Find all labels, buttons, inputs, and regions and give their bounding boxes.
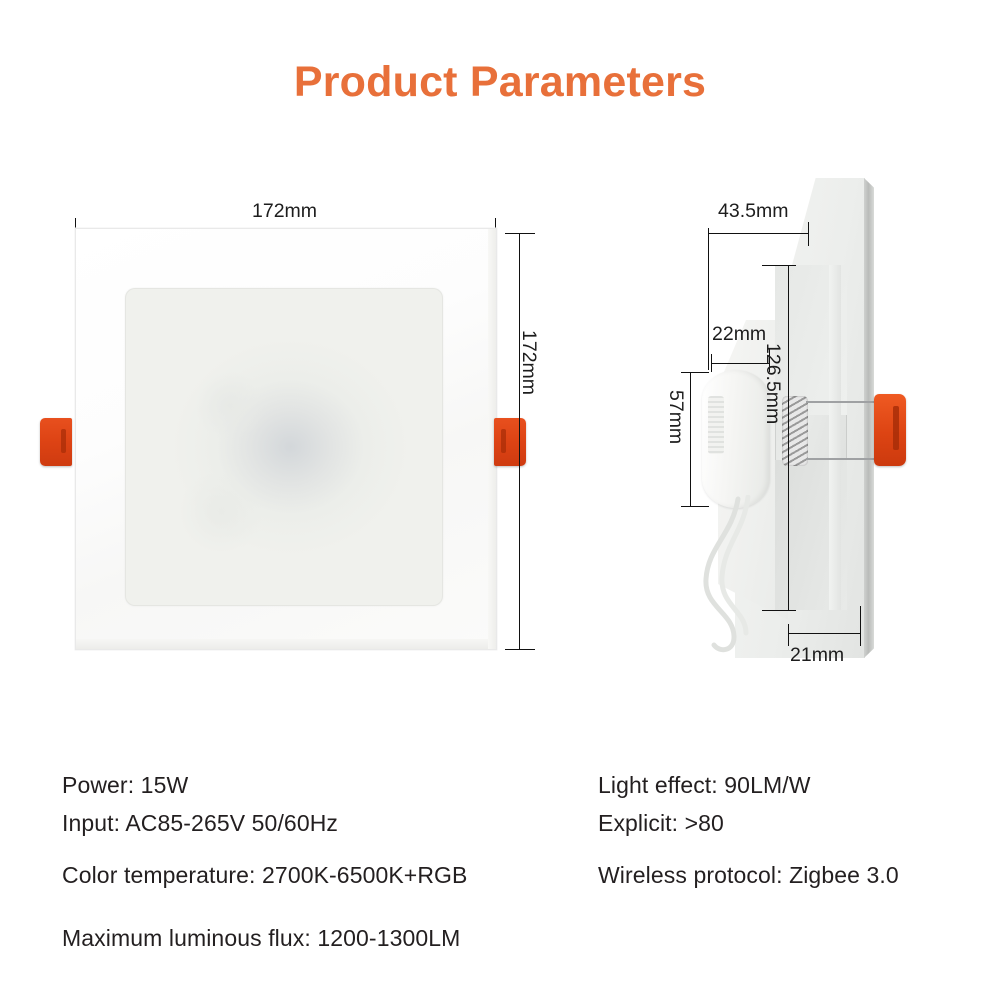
clip-arm-upper xyxy=(806,401,878,403)
cavity-depth-tick-left xyxy=(788,624,789,646)
spec-light-effect: Light effect: 90LM/W xyxy=(598,772,811,799)
clip-orange-tab-slot xyxy=(893,406,899,450)
front-height-tick-bottom xyxy=(505,649,535,650)
front-height-tick-top xyxy=(505,233,535,234)
front-width-dimension-label: 172mm xyxy=(252,200,317,223)
panel-height-dimension-label: 126.5mm xyxy=(761,343,784,424)
spec-color-temp: Color temperature: 2700K-6500K+RGB xyxy=(62,862,467,889)
spring-clip-right-slot xyxy=(501,429,506,453)
diffuser-highlight-a xyxy=(195,371,265,441)
spec-input: Input: AC85-265V 50/60Hz xyxy=(62,810,338,837)
spec-wireless-protocol: Wireless protocol: Zigbee 3.0 xyxy=(598,862,899,889)
spring-clip-assembly xyxy=(782,392,907,470)
clip-arm-lower xyxy=(806,458,878,460)
spring-clip-left-slot xyxy=(61,429,66,453)
driver-height-tick-bottom xyxy=(681,506,709,507)
page-title: Product Parameters xyxy=(0,58,1000,107)
spec-luminous-flux: Maximum luminous flux: 1200-1300LM xyxy=(62,925,460,952)
driver-height-dimension-label: 57mm xyxy=(664,390,687,444)
diffuser-panel xyxy=(125,288,443,606)
clip-orange-tab xyxy=(874,394,906,466)
panel-height-dimension-line xyxy=(788,265,789,610)
driver-height-tick-top xyxy=(681,372,709,373)
driver-height-dimension-line xyxy=(690,372,691,506)
panel-height-tick-top xyxy=(762,265,796,266)
side-top-width-dimension-label: 43.5mm xyxy=(718,200,788,223)
side-top-width-dimension-line xyxy=(708,233,808,234)
driver-label-band xyxy=(708,396,724,454)
led-driver-housing xyxy=(702,370,770,508)
spec-explicit: Explicit: >80 xyxy=(598,810,724,837)
cavity-depth-dimension-line xyxy=(788,633,860,634)
power-cable xyxy=(690,495,800,655)
front-height-dimension-line xyxy=(519,233,520,649)
clip-coil-spring xyxy=(782,396,808,466)
spring-clip-right xyxy=(494,418,526,466)
spring-clip-left xyxy=(40,418,72,466)
spec-power: Power: 15W xyxy=(62,772,188,799)
diffuser-highlight-b xyxy=(176,472,266,552)
cavity-depth-tick-right xyxy=(860,606,861,646)
cavity-depth-dimension-label: 21mm xyxy=(790,644,844,667)
front-height-dimension-label: 172mm xyxy=(517,330,540,395)
driver-width-dimension-label: 22mm xyxy=(712,323,766,346)
side-top-width-tick-right xyxy=(808,222,809,246)
front-body-bottom-edge xyxy=(76,639,496,649)
side-top-width-tick-left xyxy=(708,228,709,370)
panel-height-tick-bottom xyxy=(762,610,796,611)
product-parameters-page: Product Parameters 172mm 172mm xyxy=(0,0,1000,1000)
driver-width-tick-left xyxy=(711,354,712,372)
